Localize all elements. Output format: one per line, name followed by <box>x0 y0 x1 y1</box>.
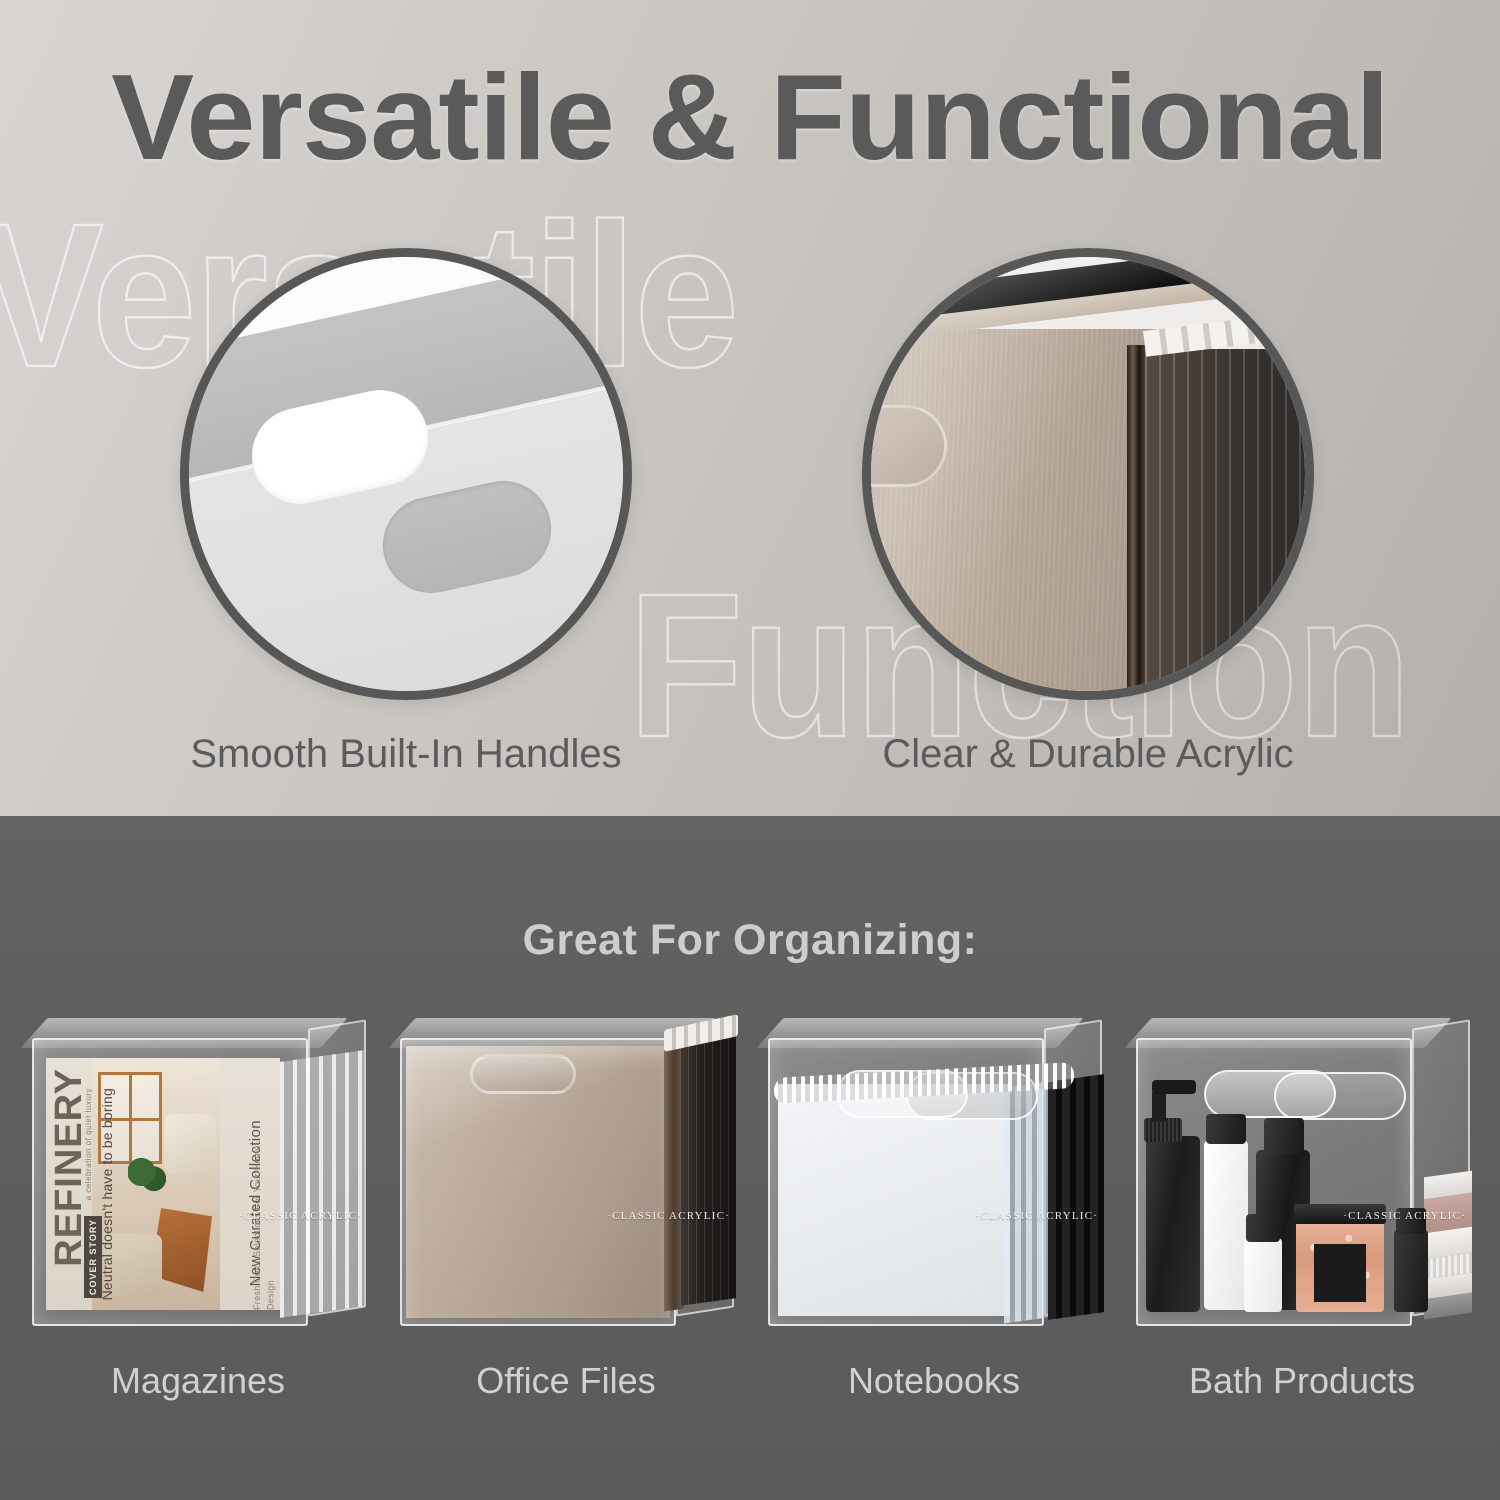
magazine-cover-story-text: Neutral doesn't have to be boring <box>98 1088 117 1300</box>
feature-acrylic-caption: Clear & Durable Acrylic <box>862 732 1314 777</box>
product-bath: ·CLASSIC ACRYLIC· Bath Products <box>1128 1012 1476 1432</box>
product-notebooks: ·CLASSIC ACRYLIC· Notebooks <box>760 1012 1108 1432</box>
brand-mark: ·CLASSIC ACRYLIC· <box>1343 1210 1466 1222</box>
acrylic-bin: ·CLASSIC ACRYLIC· <box>760 1012 1108 1340</box>
folder-pleats <box>1145 349 1314 700</box>
folder-handle-edge-icon <box>862 405 947 487</box>
black-pump-bottle <box>1146 1136 1200 1312</box>
product-office-files: ·CLASSIC ACRYLIC· Office Files <box>392 1012 740 1432</box>
product-label-office-files: Office Files <box>392 1360 740 1402</box>
white-bottle-tall <box>1204 1140 1248 1310</box>
sofa-graphic-icon <box>164 1114 216 1174</box>
file-folder-panel <box>862 329 1161 700</box>
acrylic-bin: ·CLASSIC ACRYLIC· <box>392 1012 740 1340</box>
organizing-section: Great For Organizing: REFINERY a celebra… <box>0 816 1500 1500</box>
acrylic-edge-closeup-icon <box>862 248 1314 700</box>
acrylic-bin: REFINERY a celebration of quiet luxury N… <box>24 1012 372 1340</box>
white-bottle-short-cap <box>1246 1214 1280 1242</box>
product-use-case-list: REFINERY a celebration of quiet luxury N… <box>0 1012 1500 1432</box>
feature-handles: Smooth Built-In Handles <box>180 248 632 777</box>
brand-mark: ·CLASSIC ACRYLIC· <box>607 1210 730 1222</box>
stacked-jars <box>1424 1171 1472 1318</box>
bath-salt-jar-label <box>1314 1244 1366 1302</box>
folder-handle-cutout-icon <box>470 1054 576 1094</box>
features-section: Versatile Function Versatile & Functiona… <box>0 0 1500 816</box>
pump-head-icon <box>1152 1080 1196 1094</box>
feature-acrylic: Clear & Durable Acrylic <box>862 248 1314 777</box>
brand-mark: ·CLASSIC ACRYLIC· <box>239 1210 362 1222</box>
black-bottle-small <box>1394 1230 1428 1312</box>
organizing-title: Great For Organizing: <box>0 916 1500 965</box>
white-bottle-short <box>1244 1238 1282 1312</box>
plant-graphic-icon <box>128 1154 166 1194</box>
black-bottle-cap <box>1264 1118 1304 1154</box>
bin-handle-front-icon <box>1204 1070 1336 1118</box>
product-label-magazines: Magazines <box>24 1360 372 1402</box>
notebook-black-stack <box>1048 1074 1104 1320</box>
folder-dark-pleats <box>680 1026 736 1306</box>
product-magazines: REFINERY a celebration of quiet luxury N… <box>24 1012 372 1432</box>
product-label-notebooks: Notebooks <box>760 1360 1108 1402</box>
brand-mark: ·CLASSIC ACRYLIC· <box>975 1210 1098 1222</box>
folder-spine <box>1127 345 1145 700</box>
acrylic-bin: ·CLASSIC ACRYLIC· <box>1128 1012 1476 1340</box>
product-label-bath: Bath Products <box>1128 1360 1476 1402</box>
white-bottle-cap <box>1206 1114 1246 1144</box>
feature-handles-caption: Smooth Built-In Handles <box>180 732 632 777</box>
magazine-stack <box>280 1050 364 1318</box>
magazine-cover: REFINERY a celebration of quiet luxury N… <box>46 1058 280 1310</box>
magazine-subtitle: a celebration of quiet luxury <box>84 1088 93 1200</box>
pump-neck <box>1152 1092 1166 1122</box>
page-headline: Versatile & Functional <box>0 56 1500 178</box>
handle-cutout-closeup-icon <box>180 248 632 700</box>
